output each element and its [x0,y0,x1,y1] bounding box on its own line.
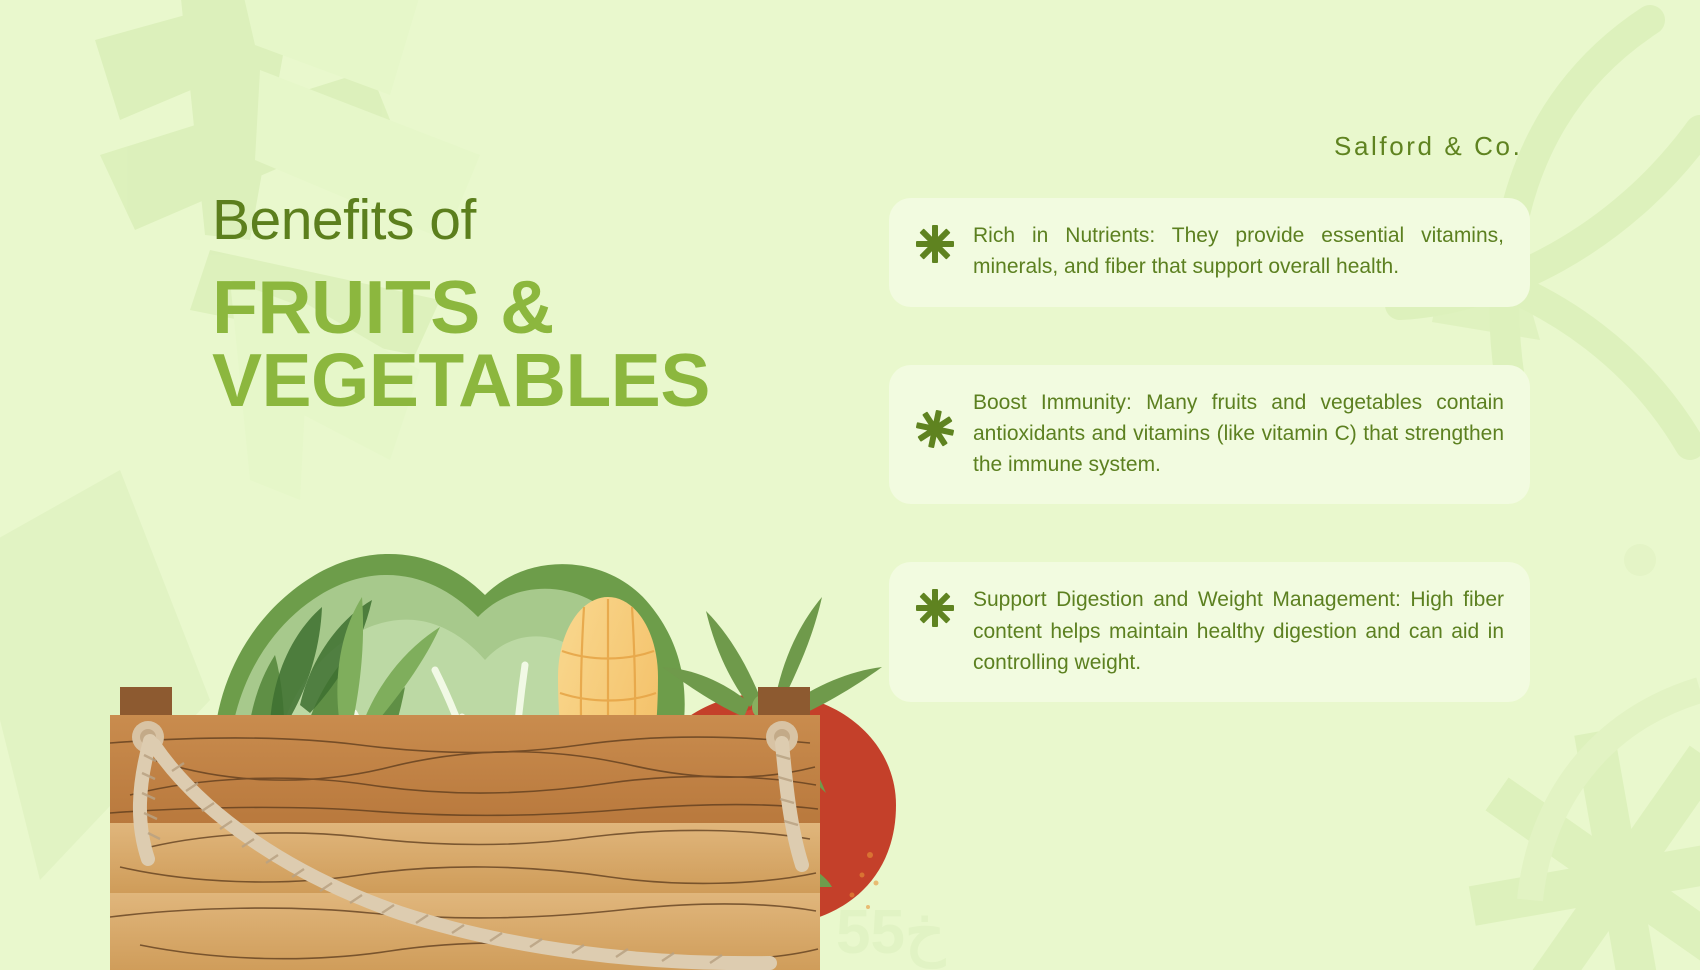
crate-slat-middle [110,823,820,893]
benefit-card[interactable]: Rich in Nutrients: They provide essentia… [889,198,1530,307]
benefits-list: Rich in Nutrients: They provide essentia… [889,198,1530,702]
vegetable-crate-illustration [110,455,910,970]
wooden-crate-graphic [110,687,820,970]
benefit-text: Rich in Nutrients: They provide essentia… [973,220,1504,283]
page-title: Benefits of FRUITS & VEGETABLES [212,192,852,417]
brand-name: Salford & Co. [1334,131,1522,162]
slide-canvas: Salford & Co. Benefits of FRUITS & VEGET… [0,0,1700,970]
asterisk-icon [915,224,955,264]
benefit-card[interactable]: Support Digestion and Weight Management:… [889,562,1530,702]
benefit-text: Boost Immunity: Many fruits and vegetabl… [973,387,1504,481]
benefit-text: Support Digestion and Weight Management:… [973,584,1504,678]
title-line-1: Benefits of [212,192,852,249]
asterisk-decor-bottomright [1469,729,1700,970]
arc-decor-bottomright [1530,690,1700,900]
circle-decor-right [1624,544,1656,576]
asterisk-icon [915,409,955,449]
title-line-2: FRUITS & VEGETABLES [212,271,852,417]
asterisk-icon [915,588,955,628]
benefit-card[interactable]: Boost Immunity: Many fruits and vegetabl… [889,365,1530,505]
